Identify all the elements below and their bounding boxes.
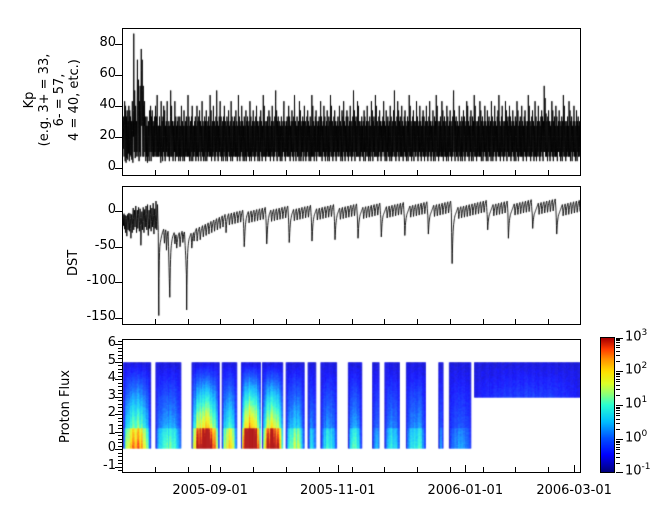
axis-tick-label: 4 bbox=[84, 370, 116, 385]
colorbar-minor-tick bbox=[616, 415, 620, 416]
colorbar-exponent: -1 bbox=[642, 462, 651, 472]
colorbar-tick-label: 101 bbox=[625, 395, 647, 411]
tick-mark bbox=[118, 397, 122, 398]
tick-mark bbox=[286, 170, 287, 176]
tick-mark bbox=[118, 435, 122, 436]
axis-tick-label: 1 bbox=[84, 423, 116, 438]
tick-mark bbox=[574, 465, 575, 473]
tick-mark bbox=[155, 319, 156, 325]
kp-label-line2: (e.g. 3+ = 33, bbox=[37, 50, 52, 150]
tick-mark bbox=[115, 247, 122, 248]
tick-mark bbox=[118, 407, 122, 408]
colorbar-minor-tick bbox=[616, 463, 620, 464]
colorbar-minor-tick bbox=[616, 345, 620, 346]
colorbar-gradient bbox=[600, 337, 615, 473]
kp-label-line3: 6- = 57, bbox=[52, 50, 67, 150]
colorbar-minor-tick bbox=[616, 444, 620, 445]
colorbar-mantissa: 10 bbox=[625, 396, 642, 411]
tick-mark bbox=[118, 358, 122, 359]
colorbar-minor-tick bbox=[616, 442, 620, 443]
colorbar-minor-tick bbox=[616, 441, 620, 442]
tick-mark bbox=[483, 319, 484, 325]
tick-mark bbox=[118, 428, 122, 429]
colorbar-tick-mark bbox=[616, 405, 623, 406]
dst-panel bbox=[122, 186, 581, 325]
axis-tick-label: 6 bbox=[84, 335, 116, 350]
kp-axis-label: Kp (e.g. 3+ = 33, 6- = 57, 4 = 40, etc.) bbox=[22, 50, 122, 150]
tick-mark bbox=[220, 170, 221, 176]
tick-mark bbox=[450, 467, 451, 473]
tick-mark bbox=[118, 400, 122, 401]
tick-mark bbox=[118, 372, 122, 373]
x-tick-label: 2005-09-01 bbox=[155, 483, 265, 498]
colorbar-tick-label: 102 bbox=[625, 361, 647, 377]
colorbar-minor-tick bbox=[616, 339, 620, 340]
kp-panel bbox=[122, 28, 581, 176]
tick-mark bbox=[450, 170, 451, 176]
tick-mark bbox=[319, 319, 320, 325]
axis-tick-label: 2 bbox=[84, 405, 116, 420]
proton-flux-axis-label: Proton Flux bbox=[58, 370, 73, 443]
colorbar-mantissa: 10 bbox=[625, 430, 642, 445]
tick-mark bbox=[515, 467, 516, 473]
colorbar-minor-tick bbox=[616, 447, 620, 448]
tick-mark bbox=[118, 411, 122, 412]
colorbar-minor-tick bbox=[616, 395, 620, 396]
tick-mark bbox=[384, 319, 385, 325]
tick-mark bbox=[319, 170, 320, 176]
colorbar-tick-label: 10-1 bbox=[625, 462, 651, 478]
axis-tick-label: 5 bbox=[84, 353, 116, 368]
colorbar-minor-tick bbox=[616, 355, 620, 356]
colorbar-minor-tick bbox=[616, 342, 620, 343]
tick-mark bbox=[118, 446, 122, 447]
tick-mark bbox=[286, 319, 287, 325]
tick-mark bbox=[384, 170, 385, 176]
colorbar-minor-tick bbox=[616, 423, 620, 424]
dst-series-canvas bbox=[123, 187, 580, 324]
x-tick-label: 2006-03-01 bbox=[519, 483, 629, 498]
colorbar-minor-tick bbox=[616, 351, 620, 352]
tick-mark bbox=[118, 442, 122, 443]
tick-mark bbox=[118, 362, 122, 363]
tick-mark bbox=[352, 319, 353, 325]
tick-mark bbox=[188, 467, 189, 473]
tick-mark bbox=[118, 341, 122, 342]
axis-tick-label: -1 bbox=[84, 458, 116, 473]
proton-flux-spectrogram-canvas bbox=[123, 340, 580, 472]
colorbar-minor-tick bbox=[616, 374, 620, 375]
proton-flux-panel bbox=[122, 339, 581, 473]
colorbar-minor-tick bbox=[616, 381, 620, 382]
colorbar-minor-tick bbox=[616, 347, 620, 348]
tick-mark bbox=[286, 467, 287, 473]
kp-label-line4: 4 = 40, etc.) bbox=[67, 50, 82, 150]
tick-mark bbox=[118, 439, 122, 440]
colorbar-minor-tick bbox=[616, 429, 620, 430]
colorbar-minor-tick bbox=[616, 379, 620, 380]
tick-mark bbox=[384, 467, 385, 473]
tick-mark bbox=[118, 383, 122, 384]
tick-mark bbox=[465, 465, 466, 473]
tick-mark bbox=[352, 170, 353, 176]
x-tick-label: 2005-11-01 bbox=[283, 483, 393, 498]
tick-mark bbox=[118, 467, 122, 468]
colorbar-minor-tick bbox=[616, 453, 620, 454]
kp-series-canvas bbox=[123, 29, 580, 175]
tick-mark bbox=[253, 170, 254, 176]
colorbar-tick-label: 100 bbox=[625, 429, 647, 445]
axis-tick-label: 0 bbox=[76, 159, 116, 174]
colorbar-minor-tick bbox=[616, 361, 620, 362]
tick-mark bbox=[210, 465, 211, 473]
colorbar-tick-label: 103 bbox=[625, 328, 647, 344]
x-tick-label: 2006-01-01 bbox=[410, 483, 520, 498]
colorbar-tick-mark bbox=[616, 472, 623, 473]
tick-mark bbox=[155, 467, 156, 473]
tick-mark bbox=[188, 319, 189, 325]
tick-mark bbox=[118, 432, 122, 433]
colorbar-minor-tick bbox=[616, 410, 620, 411]
tick-mark bbox=[483, 467, 484, 473]
tick-mark bbox=[417, 467, 418, 473]
axis-tick-label: 3 bbox=[84, 388, 116, 403]
tick-mark bbox=[450, 319, 451, 325]
colorbar-tick-mark bbox=[616, 371, 623, 372]
colorbar-minor-tick bbox=[616, 419, 620, 420]
tick-mark bbox=[118, 390, 122, 391]
colorbar-exponent: 3 bbox=[642, 328, 648, 338]
tick-mark bbox=[118, 369, 122, 370]
tick-mark bbox=[118, 355, 122, 356]
colorbar-exponent: 1 bbox=[642, 395, 648, 405]
colorbar-minor-tick bbox=[616, 373, 620, 374]
tick-mark bbox=[515, 319, 516, 325]
tick-mark bbox=[115, 168, 122, 169]
tick-mark bbox=[548, 319, 549, 325]
tick-mark bbox=[352, 467, 353, 473]
tick-mark bbox=[115, 282, 122, 283]
tick-mark bbox=[118, 456, 122, 457]
axis-tick-label: -150 bbox=[72, 309, 116, 324]
tick-mark bbox=[118, 425, 122, 426]
tick-mark bbox=[338, 465, 339, 473]
tick-mark bbox=[118, 365, 122, 366]
tick-mark bbox=[118, 449, 122, 450]
figure-root: 020406080 Kp (e.g. 3+ = 33, 6- = 57, 4 =… bbox=[0, 0, 665, 523]
tick-mark bbox=[118, 418, 122, 419]
colorbar: 10-1100101102103 bbox=[600, 337, 660, 473]
tick-mark bbox=[118, 421, 122, 422]
tick-mark bbox=[253, 467, 254, 473]
colorbar-mantissa: 10 bbox=[625, 463, 642, 478]
tick-mark bbox=[548, 170, 549, 176]
tick-mark bbox=[118, 386, 122, 387]
tick-mark bbox=[253, 319, 254, 325]
colorbar-minor-tick bbox=[616, 449, 620, 450]
colorbar-minor-tick bbox=[616, 340, 620, 341]
tick-mark bbox=[115, 44, 122, 45]
tick-mark bbox=[220, 467, 221, 473]
colorbar-tick-mark bbox=[616, 439, 623, 440]
tick-mark bbox=[515, 170, 516, 176]
kp-label-line1: Kp bbox=[22, 50, 37, 150]
colorbar-mantissa: 10 bbox=[625, 362, 642, 377]
tick-mark bbox=[115, 318, 122, 319]
colorbar-minor-tick bbox=[616, 385, 620, 386]
tick-mark bbox=[155, 170, 156, 176]
colorbar-minor-tick bbox=[616, 389, 620, 390]
tick-mark bbox=[483, 170, 484, 176]
colorbar-minor-tick bbox=[616, 408, 620, 409]
tick-mark bbox=[115, 211, 122, 212]
colorbar-minor-tick bbox=[616, 413, 620, 414]
colorbar-exponent: 2 bbox=[642, 361, 648, 371]
tick-mark bbox=[118, 379, 122, 380]
colorbar-minor-tick bbox=[616, 376, 620, 377]
tick-mark bbox=[220, 319, 221, 325]
tick-mark bbox=[417, 319, 418, 325]
tick-mark bbox=[118, 344, 122, 345]
tick-mark bbox=[118, 351, 122, 352]
colorbar-exponent: 0 bbox=[642, 429, 648, 439]
tick-mark bbox=[118, 460, 122, 461]
tick-mark bbox=[118, 453, 122, 454]
tick-mark bbox=[118, 348, 122, 349]
colorbar-mantissa: 10 bbox=[625, 329, 642, 344]
tick-mark bbox=[118, 376, 122, 377]
axis-tick-label: 0 bbox=[72, 202, 116, 217]
tick-mark bbox=[118, 414, 122, 415]
tick-mark bbox=[417, 170, 418, 176]
tick-mark bbox=[319, 467, 320, 473]
tick-mark bbox=[118, 393, 122, 394]
axis-tick-label: 0 bbox=[84, 440, 116, 455]
colorbar-minor-tick bbox=[616, 407, 620, 408]
axis-tick-label: 80 bbox=[76, 35, 116, 50]
dst-axis-label: DST bbox=[66, 250, 81, 276]
tick-mark bbox=[118, 404, 122, 405]
tick-mark bbox=[548, 467, 549, 473]
colorbar-minor-tick bbox=[616, 457, 620, 458]
tick-mark bbox=[188, 170, 189, 176]
tick-mark bbox=[118, 463, 122, 464]
tick-mark bbox=[118, 470, 122, 471]
